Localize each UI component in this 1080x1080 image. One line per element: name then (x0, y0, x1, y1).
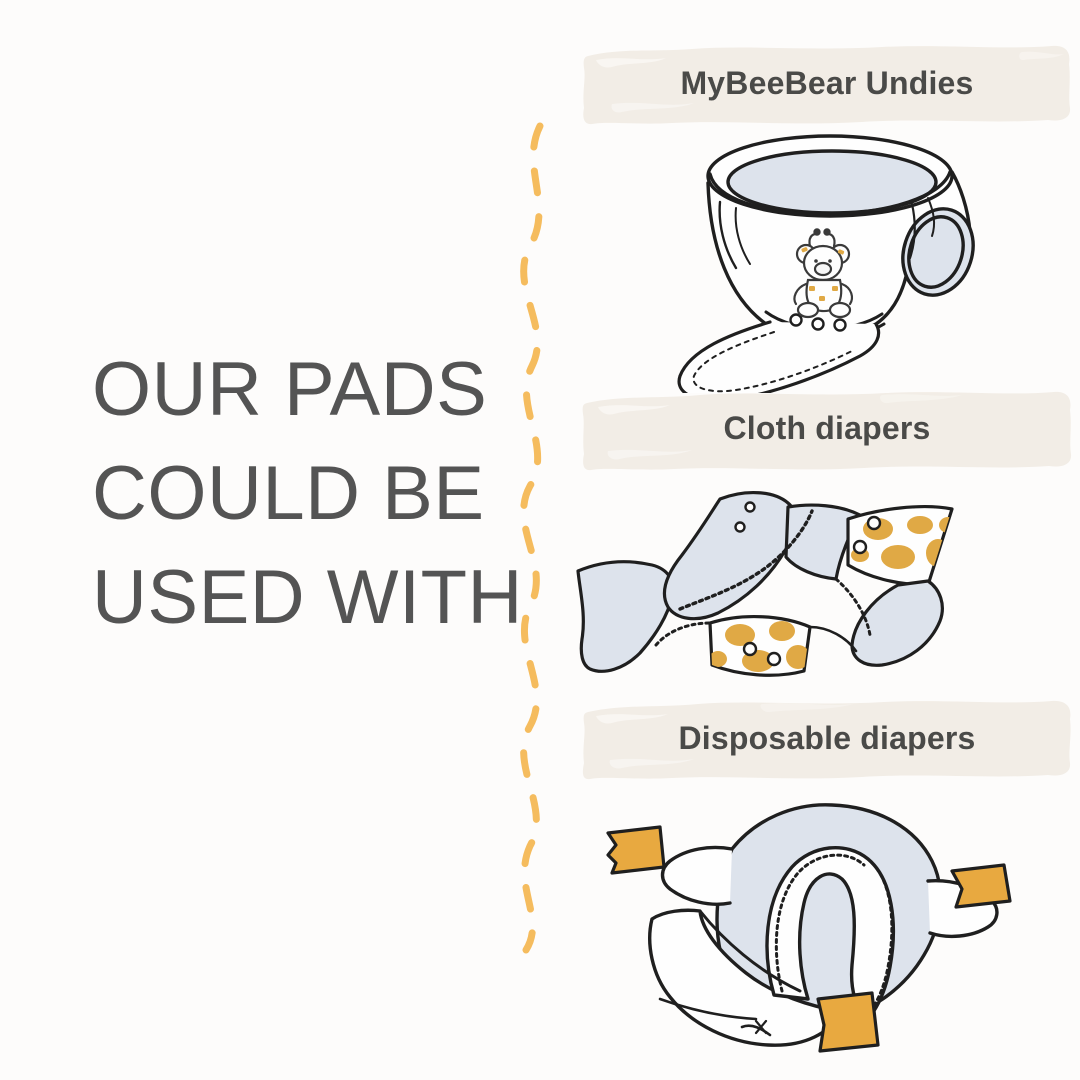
label-band-mybeebear-undies: MyBeeBear Undies (582, 38, 1072, 128)
headline-line-2: COULD BE (92, 442, 492, 546)
disposable-diaper-illustration (560, 783, 1080, 1073)
promo-graphic: OUR PADS COULD BE USED WITH MyBeeBear Un… (0, 0, 1080, 1080)
cloth-diaper-illustration (560, 473, 1080, 703)
label-disposable-diapers: Disposable diapers (582, 693, 1072, 783)
page-title: OUR PADS COULD BE USED WITH (92, 338, 492, 650)
label-cloth-diapers: Cloth diapers (582, 383, 1072, 473)
section-cloth-diapers[interactable]: Cloth diapers (560, 383, 1080, 703)
section-disposable-diapers[interactable]: Disposable diapers (560, 693, 1080, 1073)
product-list: MyBeeBear Undies (560, 0, 1080, 1080)
label-band-disposable-diapers: Disposable diapers (582, 693, 1072, 783)
section-mybeebear-undies[interactable]: MyBeeBear Undies (560, 38, 1080, 393)
headline-line-3: USED WITH (92, 546, 492, 650)
label-band-cloth-diapers: Cloth diapers (582, 383, 1072, 473)
training-undies-illustration (560, 128, 1080, 393)
label-mybeebear-undies: MyBeeBear Undies (582, 38, 1072, 128)
headline-line-1: OUR PADS (92, 338, 492, 442)
